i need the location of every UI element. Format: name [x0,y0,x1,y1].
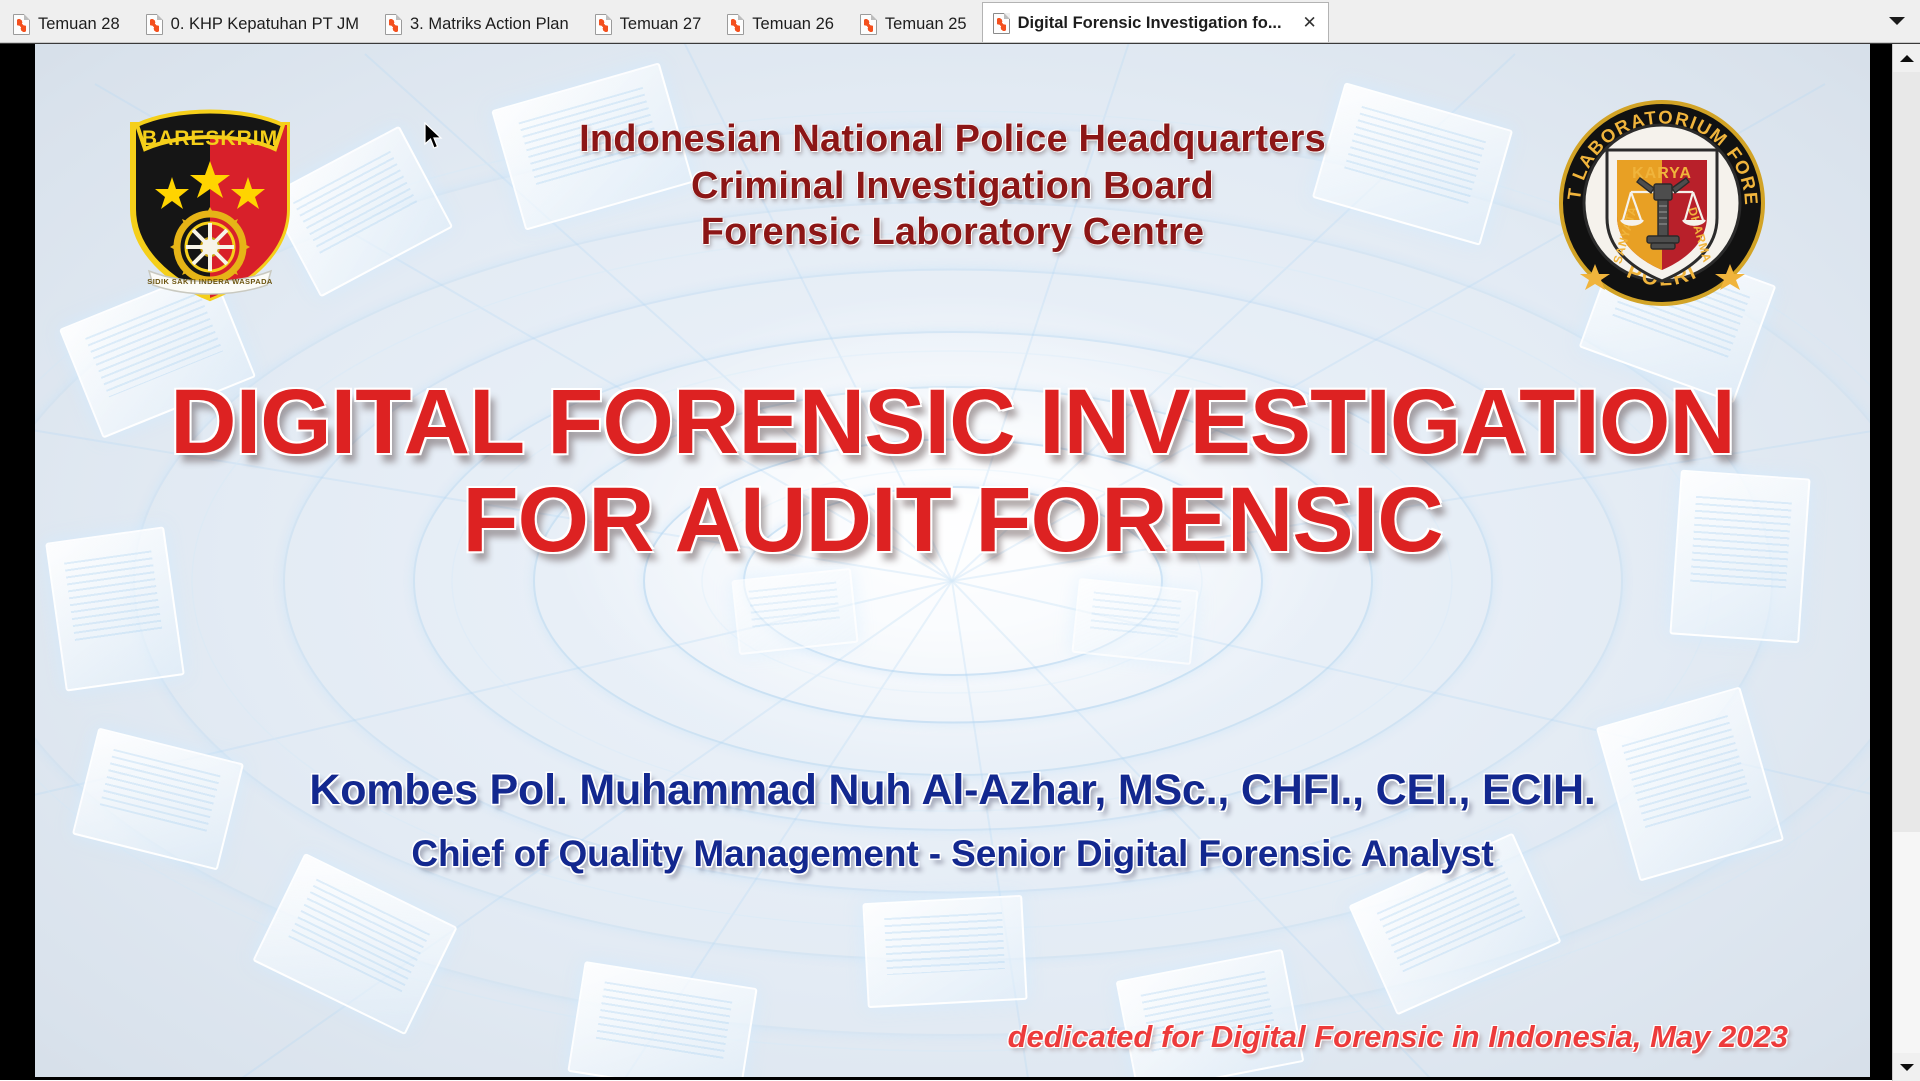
scrollbar-track[interactable] [1893,72,1920,1053]
svg-text:SIDIK SAKTI INDERA WASPADA: SIDIK SAKTI INDERA WASPADA [147,277,273,286]
document-viewport: BARESKRIM [0,43,1920,1080]
tab-label: Temuan 28 [38,16,120,33]
tab-label: 0. KHP Kepatuhan PT JM [171,16,359,33]
presenter-name: Kombes Pol. Muhammad Nuh Al-Azhar, MSc.,… [35,766,1870,815]
tab-active[interactable]: Digital Forensic Investigation fo...✕ [982,2,1329,42]
tab[interactable]: Temuan 26 [716,5,849,42]
tab-overflow-button[interactable] [1874,0,1920,42]
scrollbar-thumb[interactable] [1893,72,1920,832]
tab-label: Temuan 26 [752,16,834,33]
pdf-file-icon [385,14,402,35]
pdf-file-icon [993,13,1010,34]
tab-strip: Temuan 280. KHP Kepatuhan PT JM3. Matrik… [0,0,1874,42]
scroll-up-arrow-icon [1900,55,1914,62]
tab[interactable]: Temuan 25 [849,5,982,42]
tab-close-icon[interactable]: ✕ [1300,13,1320,33]
ghost-device [731,568,858,655]
vertical-scrollbar[interactable] [1892,44,1920,1081]
tab[interactable]: Temuan 28 [2,5,135,42]
scroll-down-arrow-icon [1900,1064,1914,1071]
title-line-2: FOR AUDIT FORENSIC [35,472,1870,570]
title-line-1: DIGITAL FORENSIC INVESTIGATION [35,374,1870,472]
header-line-2: Criminal Investigation Board [35,163,1870,210]
organization-header: Indonesian National Police Headquarters … [35,116,1870,256]
dedication-text: dedicated for Digital Forensic in Indone… [1008,1019,1788,1055]
pdf-file-icon [13,14,30,35]
presenter-role: Chief of Quality Management - Senior Dig… [35,833,1870,875]
presentation-slide: BARESKRIM [35,44,1870,1077]
chevron-down-icon [1889,17,1905,25]
tab[interactable]: 0. KHP Kepatuhan PT JM [135,5,374,42]
tab[interactable]: 3. Matriks Action Plan [374,5,584,42]
presenter-block: Kombes Pol. Muhammad Nuh Al-Azhar, MSc.,… [35,766,1870,875]
header-line-3: Forensic Laboratory Centre [35,209,1870,256]
pdf-file-icon [146,14,163,35]
ghost-device [1071,578,1198,665]
browser-tab-bar: Temuan 280. KHP Kepatuhan PT JM3. Matrik… [0,0,1920,43]
pdf-file-icon [595,14,612,35]
header-line-1: Indonesian National Police Headquarters [35,116,1870,163]
pdf-file-icon [727,14,744,35]
ghost-device [862,895,1027,1008]
tab-label: Digital Forensic Investigation fo... [1018,15,1282,32]
tab[interactable]: Temuan 27 [584,5,717,42]
scroll-down-button[interactable] [1893,1053,1920,1081]
scroll-up-button[interactable] [1893,44,1920,72]
tab-label: 3. Matriks Action Plan [410,16,569,33]
pdf-file-icon [860,14,877,35]
tab-label: Temuan 25 [885,16,967,33]
tab-label: Temuan 27 [620,16,702,33]
slide-title: DIGITAL FORENSIC INVESTIGATION FOR AUDIT… [35,374,1870,569]
